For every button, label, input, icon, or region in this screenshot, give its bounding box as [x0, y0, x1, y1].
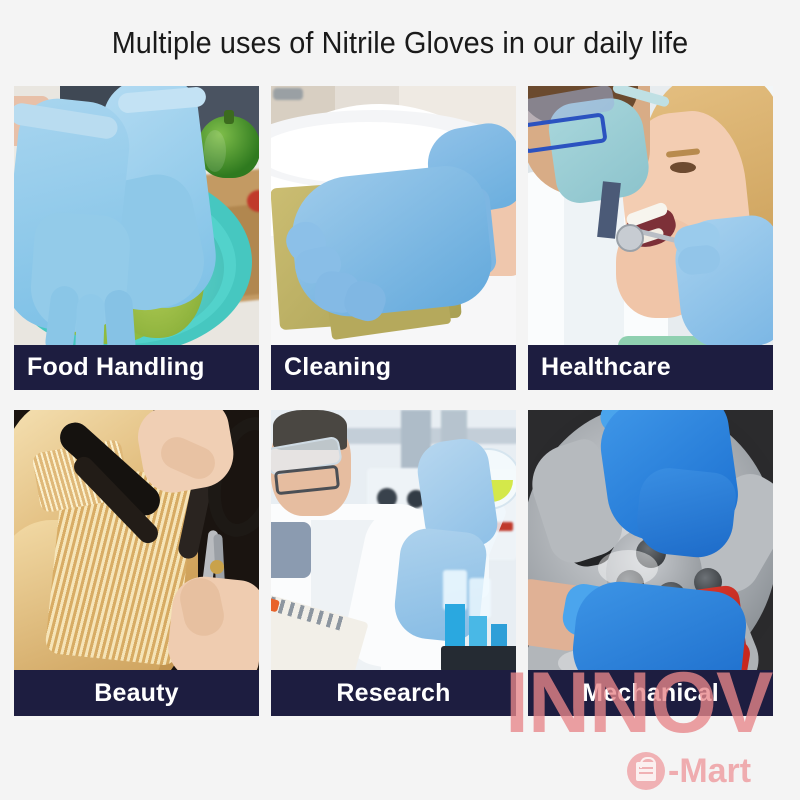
label-bar-healthcare: Healthcare — [528, 345, 773, 390]
card-label: Mechanical — [582, 681, 719, 706]
use-case-grid: Food Handling — [14, 86, 772, 716]
card-cleaning[interactable]: Cleaning — [271, 86, 516, 390]
page-header: Multiple uses of Nitrile Gloves in our d… — [0, 0, 800, 86]
card-label: Beauty — [94, 681, 179, 706]
label-bar-cleaning: Cleaning — [271, 345, 516, 390]
page-title: Multiple uses of Nitrile Gloves in our d… — [112, 25, 689, 61]
label-bar-food-handling: Food Handling — [14, 345, 259, 390]
card-label: Healthcare — [541, 355, 671, 380]
infographic-page: Multiple uses of Nitrile Gloves in our d… — [0, 0, 800, 800]
card-mechanical[interactable]: Mechanical — [528, 410, 773, 716]
card-food-handling[interactable]: Food Handling — [14, 86, 259, 390]
card-research[interactable]: Research — [271, 410, 516, 716]
card-label: Cleaning — [284, 355, 391, 380]
watermark-emart: -Mart — [627, 752, 751, 790]
card-healthcare[interactable]: Healthcare — [528, 86, 773, 390]
card-label: Research — [336, 681, 450, 706]
card-label: Food Handling — [27, 355, 205, 380]
label-bar-beauty: Beauty — [14, 670, 259, 716]
watermark-suffix: -Mart — [668, 754, 751, 788]
card-beauty[interactable]: Beauty — [14, 410, 259, 716]
label-bar-mechanical: Mechanical — [528, 670, 773, 716]
shopping-bag-icon — [627, 752, 665, 790]
label-bar-research: Research — [271, 670, 516, 716]
